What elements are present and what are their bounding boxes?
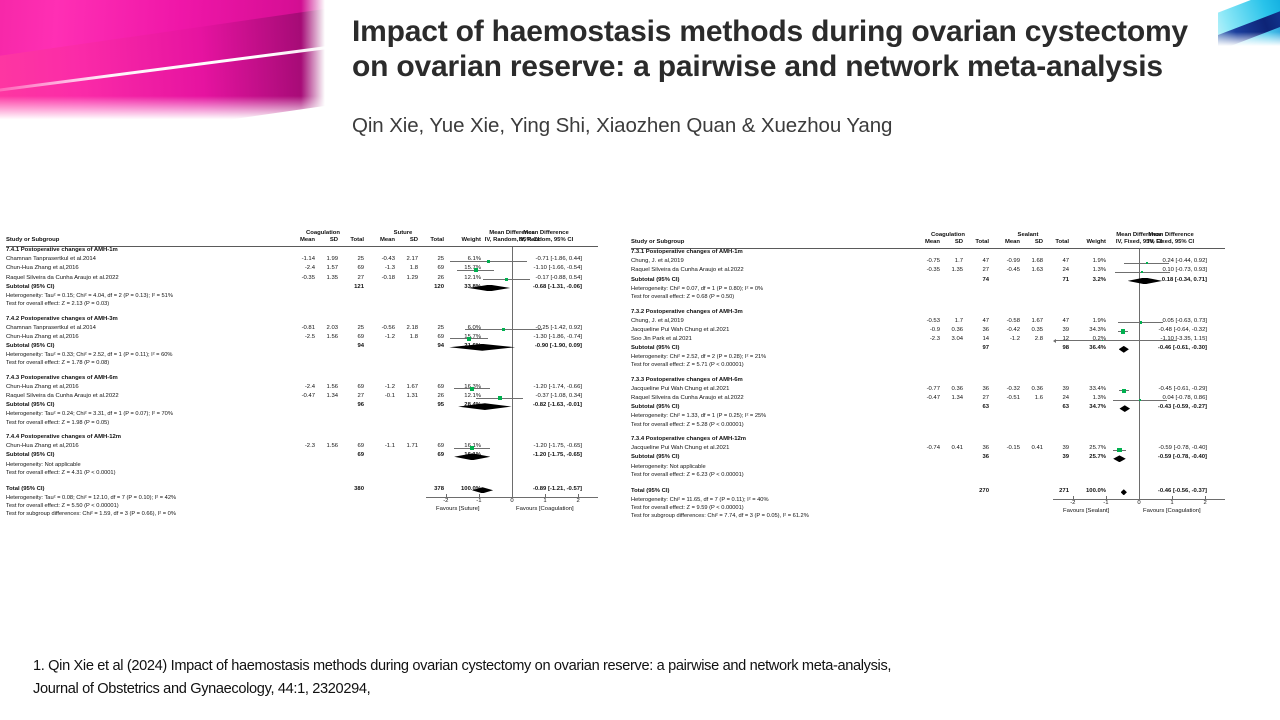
cell-total-1: 380 (334, 487, 364, 493)
table-row-study: Jacqueline Pui Wah Chung et al.2021-0.90… (629, 328, 1229, 337)
cell-weight: 12.1% (449, 276, 481, 282)
cell-total-1: 27 (334, 276, 364, 282)
cell-effect-ci: -1.20 [-1.75, -0.65] (498, 444, 582, 450)
axis-tick-label: 1 (1163, 501, 1181, 507)
study-name: Jacqueline Pui Wah Chung et al.2021 (631, 446, 729, 452)
cell-total-1: 94 (334, 344, 364, 350)
cell-total-2: 47 (1039, 319, 1069, 325)
axis-tick-label: 0 (503, 499, 521, 505)
effect-marker (467, 337, 471, 341)
effect-marker (1141, 271, 1143, 273)
axis-tick-label: 2 (1196, 501, 1214, 507)
table-row-study: Chamnan Tanprasertkul et al.2014-0.812.0… (4, 326, 600, 335)
banner-fade-bottom (1218, 32, 1280, 48)
study-name: Total (95% CI) (631, 489, 670, 495)
study-name: Jacqueline Pui Wah Chung et al.2021 (631, 387, 729, 393)
cell-effect-ci: -1.30 [-1.86, -0.74] (498, 335, 582, 341)
study-name: Jacqueline Pui Wah Chung et al.2021 (631, 328, 729, 334)
table-row-subtotal: Subtotal (95% CI)363925.7%-0.59 [-0.78, … (629, 455, 1229, 464)
axis-tick-label: 0 (1130, 501, 1148, 507)
cell-total-1: 74 (959, 278, 989, 284)
axis-tick (512, 494, 513, 497)
statistics-line: Test for overall effect: Z = 0.68 (P = 0… (629, 295, 1229, 304)
cell-total-1: 121 (334, 285, 364, 291)
cell-effect-ci: -0.46 [-0.56, -0.37] (1123, 489, 1207, 495)
effect-marker (505, 278, 509, 282)
cell-effect-ci: -1.10 [-1.66, -0.54] (498, 266, 582, 272)
study-name: Chun-Hua Zhang et al,2016 (6, 444, 79, 450)
axis-tick (578, 494, 579, 497)
study-name: Chung, J. et al,2019 (631, 259, 684, 265)
statistics-line: Test for subgroup differences: Chi² = 1.… (4, 512, 600, 521)
axis-tick (1205, 496, 1206, 499)
cell-total-2: 39 (1039, 455, 1069, 461)
study-name: Chamnan Tanprasertkul et al.2014 (6, 326, 96, 332)
effect-marker (470, 446, 474, 450)
citation-line-1: 1. Qin Xie et al (2024) Impact of haemos… (33, 655, 1233, 678)
axis-tick (1172, 496, 1173, 499)
statistics-line: Test for overall effect: Z = 4.31 (P < 0… (4, 471, 600, 480)
cell-weight: 1.3% (1074, 268, 1106, 274)
cell-total-2: 39 (1039, 328, 1069, 334)
group-header-treatment: Coagulation (287, 231, 359, 237)
statistics-line: Test for overall effect: Z = 2.13 (P = 0… (4, 302, 600, 311)
cell-total-2: 69 (414, 453, 444, 459)
axis-tick (1139, 496, 1140, 499)
cell-effect-ci: -0.46 [-0.61, -0.30] (1123, 346, 1207, 352)
study-name: Raquel Silveira da Cunha Araujo et al.20… (6, 394, 119, 400)
author-list: Qin Xie, Yue Xie, Ying Shi, Xiaozhen Qua… (352, 114, 1212, 138)
effect-marker (1117, 448, 1122, 453)
study-name: Subtotal (95% CI) (6, 285, 54, 291)
cell-effect-ci: -0.43 [-0.59, -0.27] (1123, 405, 1207, 411)
study-name: Raquel Silveira da Cunha Araujo et al.20… (6, 276, 119, 282)
cell-total-1: 47 (959, 259, 989, 265)
citation-block: 1. Qin Xie et al (2024) Impact of haemos… (33, 655, 1233, 701)
study-name: Subtotal (95% CI) (6, 344, 54, 350)
effect-marker (474, 268, 478, 272)
cell-total-2: 63 (1039, 405, 1069, 411)
column-header-study: Study or Subgroup (6, 238, 59, 244)
cell-total-1: 27 (959, 268, 989, 274)
citation-line-2: Journal of Obstetrics and Gynaecology, 4… (33, 678, 1233, 701)
cell-total-2: 25 (414, 326, 444, 332)
axis-tick-label: -1 (1097, 501, 1115, 507)
effect-marker (1146, 262, 1148, 264)
confidence-interval-line (1056, 340, 1177, 341)
cell-total-1: 69 (334, 266, 364, 272)
cell-effect-ci: -0.82 [-1.63, -0.01] (498, 403, 582, 409)
column-header-total-2: Total (959, 240, 989, 246)
study-name: Chun-Hua Zhang et al,2016 (6, 335, 79, 341)
study-name: Chamnan Tanprasertkul et al.2014 (6, 257, 96, 263)
study-name: Soo Jin Park et al.2021 (631, 337, 692, 343)
study-name: Subtotal (95% CI) (631, 455, 679, 461)
cell-total-1: 69 (334, 335, 364, 341)
cell-total-2: 39 (1039, 387, 1069, 393)
cell-total-1: 36 (959, 455, 989, 461)
cell-total-2: 98 (1039, 346, 1069, 352)
study-name: Raquel Silveira da Cunha Araujo et al.20… (631, 268, 744, 274)
axis-tick-label: 2 (569, 499, 587, 505)
column-header-plot-ci: IV, Random, 95% CI (426, 238, 598, 244)
cell-total-2: 71 (1039, 278, 1069, 284)
cell-total-2: 47 (1039, 259, 1069, 265)
study-name: Subtotal (95% CI) (6, 453, 54, 459)
cell-total-1: 69 (334, 385, 364, 391)
cell-total-2: 69 (414, 385, 444, 391)
cell-effect-ci: -0.45 [-0.61, -0.29] (1123, 387, 1207, 393)
axis-tick (446, 494, 447, 497)
cell-effect-ci: -0.68 [-1.31, -0.06] (498, 285, 582, 291)
cell-total-1: 270 (959, 489, 989, 495)
axis-tick-label: -2 (437, 499, 455, 505)
cell-weight: 1.9% (1074, 319, 1106, 325)
effect-marker (470, 387, 474, 391)
axis-tick-label: -2 (1064, 501, 1082, 507)
cell-total-1: 14 (959, 337, 989, 343)
cell-total-2: 24 (1039, 268, 1069, 274)
cell-total-2: 378 (414, 487, 444, 493)
cell-total-2: 69 (414, 444, 444, 450)
statistics-line: Test for subgroup differences: Chi² = 7.… (629, 514, 1229, 523)
study-name: Total (95% CI) (6, 487, 45, 493)
forest-plot-coagulation-vs-sealant: CoagulationSealantMean DifferenceMean Di… (629, 233, 1229, 537)
subgroup-heading: 7.4.3 Postoperative changes of AMH-6m (4, 376, 600, 385)
cell-total-1: 36 (959, 446, 989, 452)
group-header-treatment: Coagulation (912, 233, 984, 239)
effect-marker (1122, 389, 1127, 394)
cell-weight: 100.0% (1074, 489, 1106, 495)
cell-effect-ci: -1.20 [-1.74, -0.66] (498, 385, 582, 391)
axis-tick (479, 494, 480, 497)
cell-total-1: 36 (959, 387, 989, 393)
effect-marker (487, 260, 490, 263)
study-name: Chun-Hua Zhang et al,2016 (6, 385, 79, 391)
statistics-line: Test for overall effect: Z = 5.71 (P < 0… (629, 363, 1229, 372)
cell-total-2: 95 (414, 403, 444, 409)
cell-effect-ci: -0.48 [-0.64, -0.32] (1123, 328, 1207, 334)
axis-tick-label: 1 (536, 499, 554, 505)
cell-weight: 36.4% (1074, 346, 1106, 352)
table-row-study: Soo Jin Park et al.2021-2.33.0414-1.22.8… (629, 337, 1229, 346)
cell-total-1: 27 (959, 396, 989, 402)
axis-tick-label: -1 (470, 499, 488, 505)
effect-marker (1102, 340, 1103, 341)
effect-marker (1139, 399, 1141, 401)
effect-marker (1140, 321, 1142, 323)
cell-total-2: 39 (1039, 446, 1069, 452)
cell-weight: 3.2% (1074, 278, 1106, 284)
table-row-study: Jacqueline Pui Wah Chung et al.2021-0.74… (629, 446, 1229, 455)
study-name: Subtotal (95% CI) (631, 346, 679, 352)
effect-marker (502, 328, 505, 331)
cell-weight: 25.7% (1074, 455, 1106, 461)
cell-total-2: 271 (1039, 489, 1069, 495)
cell-total-1: 27 (334, 394, 364, 400)
study-name: Chun-Hua Zhang et al,2016 (6, 266, 79, 272)
decorative-banner-top-left (0, 0, 327, 122)
cell-total-2: 26 (414, 276, 444, 282)
study-name: Chung, J. et al,2019 (631, 319, 684, 325)
cell-effect-ci: -0.89 [-1.21, -0.57] (498, 487, 582, 493)
effect-marker (1121, 329, 1126, 334)
axis-tick (1106, 496, 1107, 499)
cell-total-1: 47 (959, 319, 989, 325)
table-row-study: Chun-Hua Zhang et al,2016-2.31.5669-1.11… (4, 444, 600, 453)
study-name: Raquel Silveira da Cunha Araujo et al.20… (631, 396, 744, 402)
subgroup-heading: 7.4.4 Postoperative changes of AMH-12m (4, 435, 600, 444)
column-header-total-2: Total (334, 238, 364, 244)
banner-fade-bottom (0, 96, 327, 122)
cell-weight: 1.3% (1074, 396, 1106, 402)
cell-total-2: 25 (414, 257, 444, 263)
study-name: Subtotal (95% CI) (631, 278, 679, 284)
forest-plot-coagulation-vs-suture: CoagulationSutureMean DifferenceMean Dif… (4, 231, 600, 535)
group-header-mean-difference-plot: Mean Difference (426, 231, 598, 237)
table-row-study: Chun-Hua Zhang et al,2016-2.51.5669-1.21… (4, 335, 600, 344)
cell-total-1: 63 (959, 405, 989, 411)
statistics-line: Test for overall effect: Z = 5.28 (P < 0… (629, 423, 1229, 432)
axis-tick (545, 494, 546, 497)
cell-weight: 34.3% (1074, 328, 1106, 334)
ci-left-arrow (1053, 339, 1056, 343)
cell-weight: 25.7% (1074, 446, 1106, 452)
favours-right-label: Favours [Coagulation] (1143, 509, 1201, 515)
group-header-mean-difference-plot: Mean Difference (1053, 233, 1225, 239)
table-row-subtotal: Subtotal (95% CI)696916.1%-1.20 [-1.75, … (4, 453, 600, 462)
effect-marker (498, 396, 502, 400)
cell-total-1: 36 (959, 328, 989, 334)
cell-total-1: 69 (334, 444, 364, 450)
table-row-study: Chamnan Tanprasertkul et al.2014-1.141.9… (4, 257, 600, 266)
cell-weight: 34.7% (1074, 405, 1106, 411)
study-name: Subtotal (95% CI) (631, 405, 679, 411)
column-header-plot-ci: IV, Fixed, 95% CI (1053, 240, 1225, 246)
favours-left-label: Favours [Sealant] (1063, 509, 1109, 515)
title-block: Impact of haemostasis methods during ova… (352, 14, 1212, 138)
cell-total-1: 69 (334, 453, 364, 459)
favours-left-label: Favours [Suture] (436, 507, 480, 513)
cell-total-2: 69 (414, 335, 444, 341)
study-name: Subtotal (95% CI) (6, 403, 54, 409)
cell-total-2: 24 (1039, 396, 1069, 402)
table-row-study: Raquel Silveira da Cunha Araujo et al.20… (4, 394, 600, 403)
cell-total-2: 94 (414, 344, 444, 350)
table-row-study: Raquel Silveira da Cunha Araujo et al.20… (629, 268, 1229, 277)
cell-effect-ci: -0.59 [-0.78, -0.40] (1123, 455, 1207, 461)
decorative-banner-top-right (1218, 0, 1280, 48)
cell-total-2: 120 (414, 285, 444, 291)
cell-total-2: 26 (414, 394, 444, 400)
cell-total-1: 97 (959, 346, 989, 352)
statistics-line: Test for overall effect: Z = 6.23 (P < 0… (629, 473, 1229, 482)
statistics-line: Test for overall effect: Z = 1.78 (P = 0… (4, 361, 600, 370)
cell-weight: 1.9% (1074, 259, 1106, 265)
cell-total-2: 69 (414, 266, 444, 272)
column-header-study: Study or Subgroup (631, 240, 684, 246)
cell-total-1: 25 (334, 326, 364, 332)
cell-total-1: 96 (334, 403, 364, 409)
cell-weight: 33.4% (1074, 387, 1106, 393)
page-title: Impact of haemostasis methods during ova… (352, 14, 1212, 84)
statistics-line: Test for overall effect: Z = 1.98 (P = 0… (4, 421, 600, 430)
cell-total-1: 25 (334, 257, 364, 263)
cell-effect-ci: -0.59 [-0.78, -0.40] (1123, 446, 1207, 452)
cell-effect-ci: -1.20 [-1.75, -0.65] (498, 453, 582, 459)
table-row-study: Raquel Silveira da Cunha Araujo et al.20… (4, 276, 600, 285)
axis-tick (1073, 496, 1074, 499)
favours-right-label: Favours [Coagulation] (516, 507, 574, 513)
